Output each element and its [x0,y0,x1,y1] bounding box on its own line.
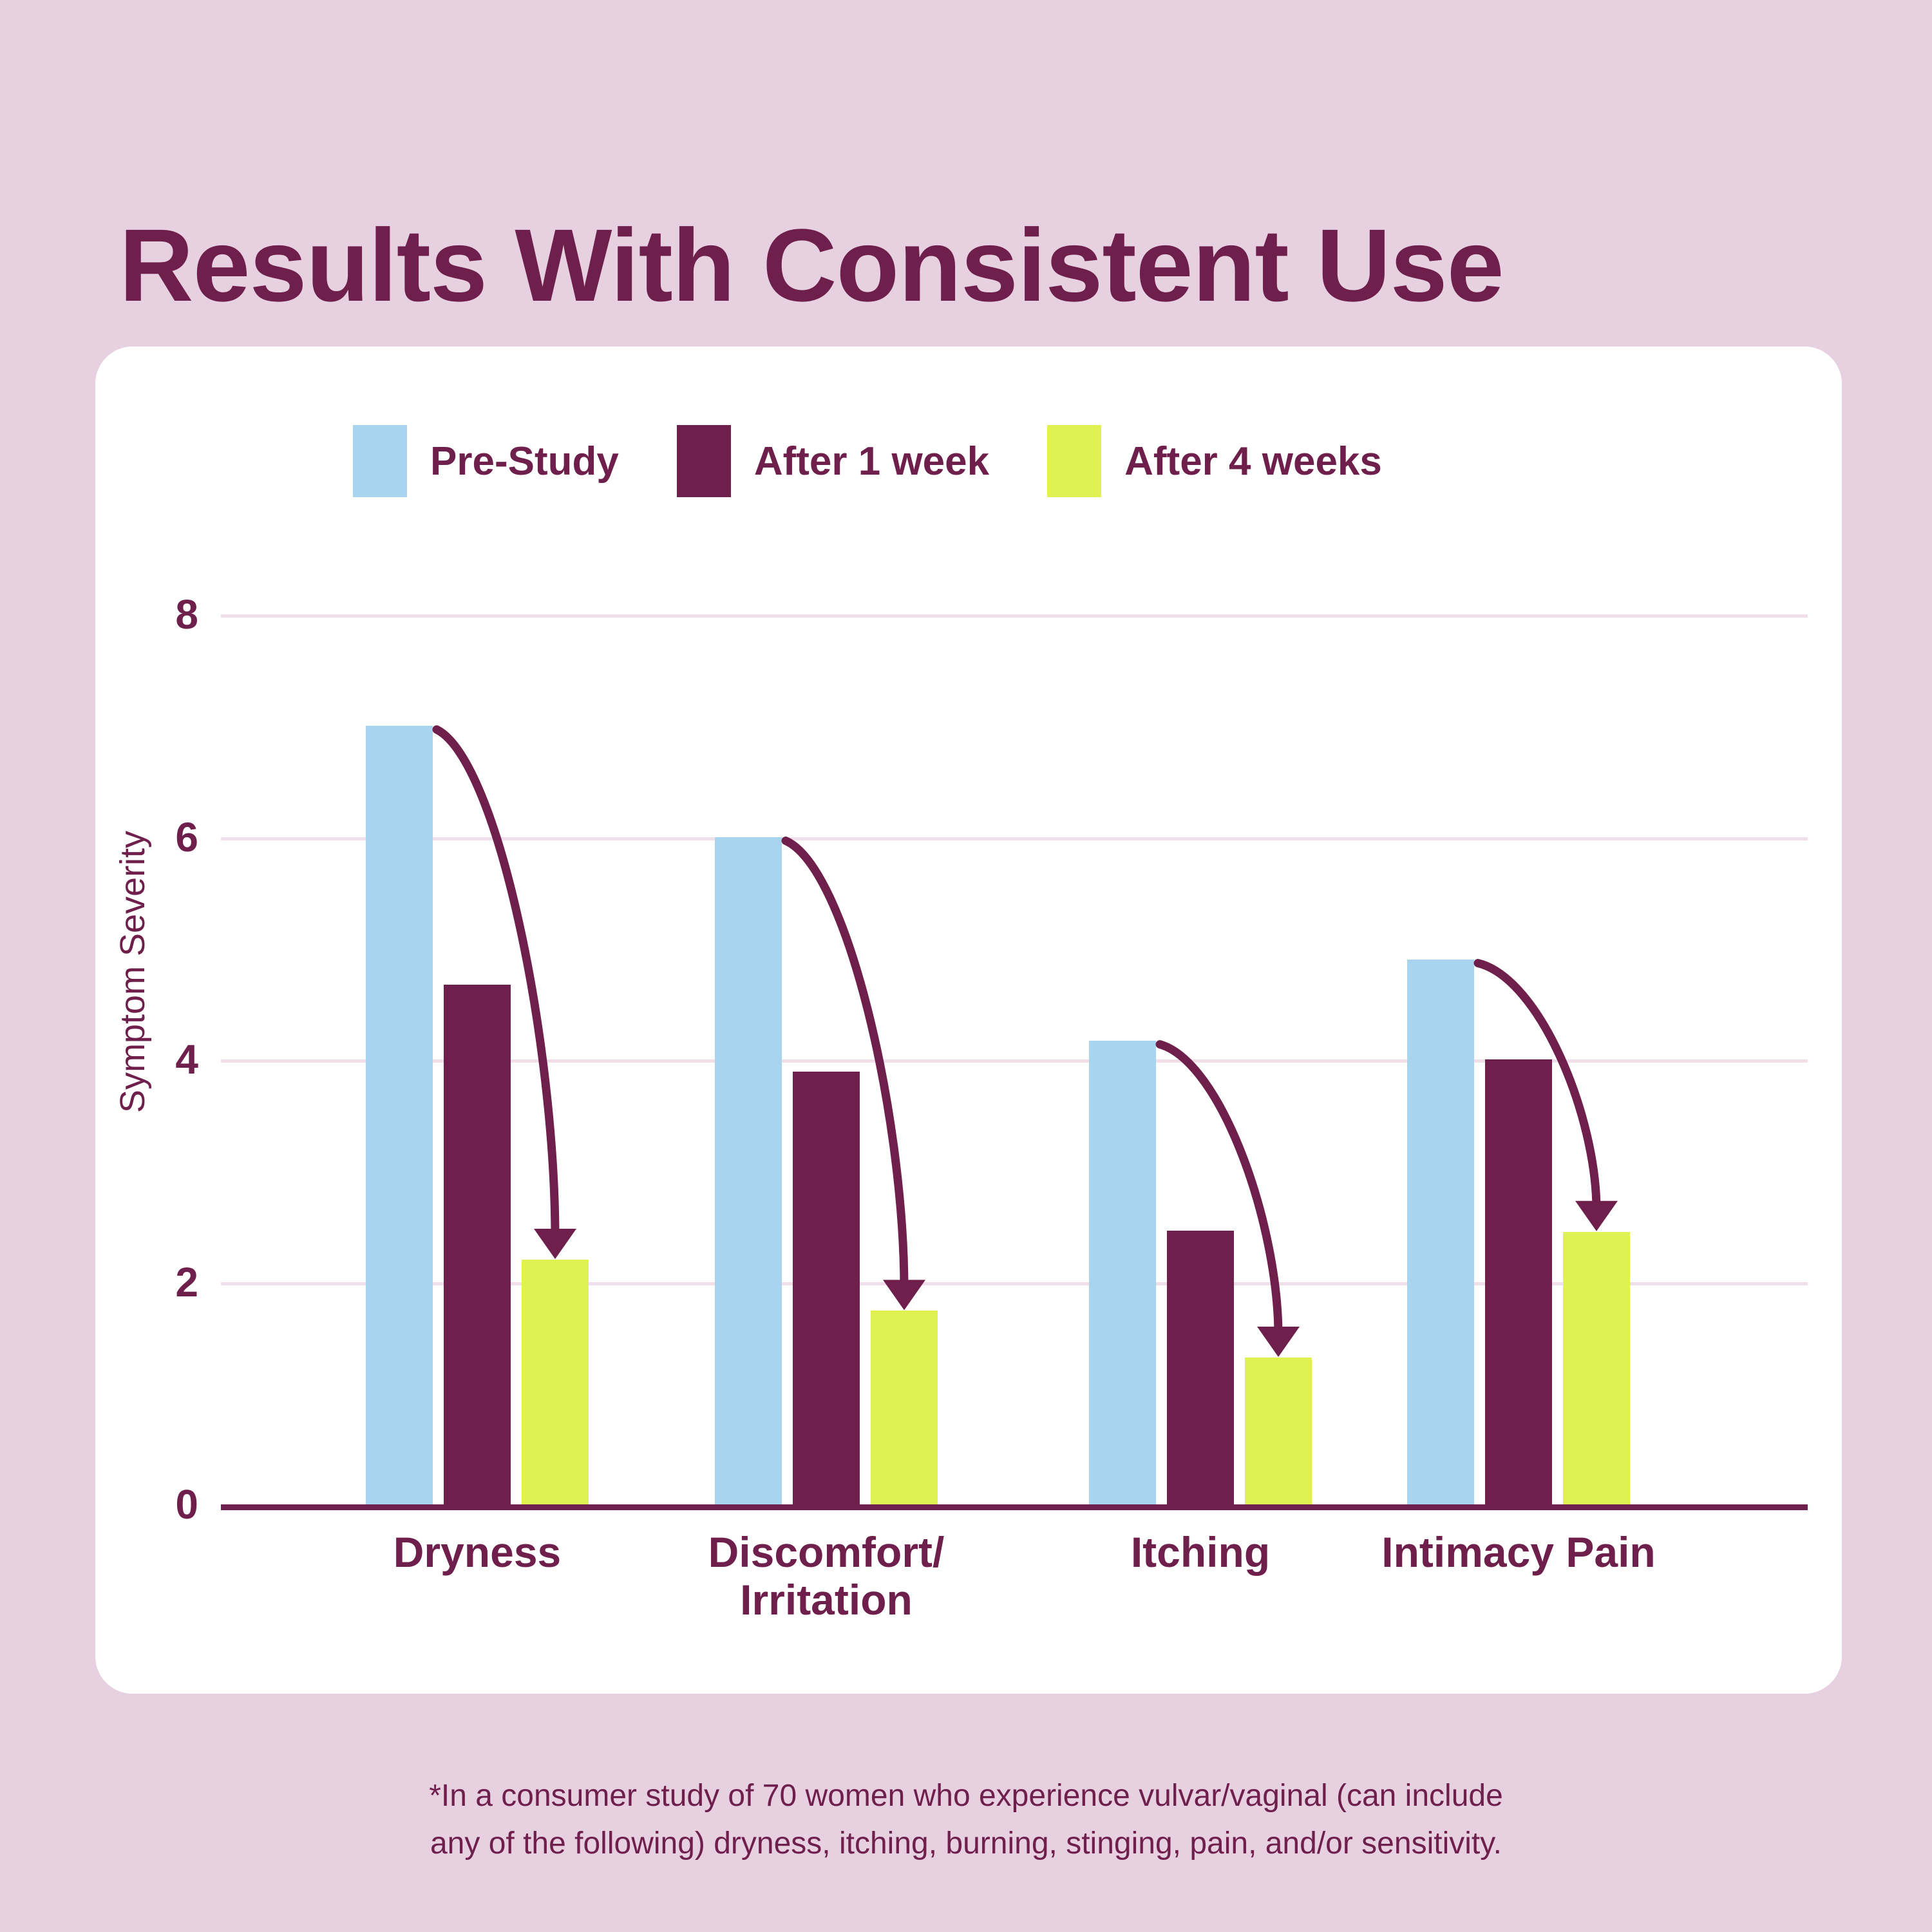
y-tick-label-4: 4 [115,1036,198,1083]
y-tick-label-2: 2 [115,1258,198,1306]
bar [522,1260,589,1504]
x-axis-baseline [221,1504,1808,1510]
bar [793,1072,860,1504]
footnote: *In a consumer study of 70 women who exp… [258,1772,1674,1868]
bar [1563,1232,1630,1504]
footnote-line-2: any of the following) dryness, itching, … [258,1820,1674,1868]
bar [1485,1059,1552,1504]
arrow-head-icon [1257,1327,1300,1357]
gridline-8 [221,614,1808,618]
footnote-line-1: *In a consumer study of 70 women who exp… [258,1772,1674,1820]
page-title: Results With Consistent Use [119,214,1826,317]
y-tick-label-0: 0 [115,1481,198,1528]
bar [1407,960,1474,1504]
infographic-page: Results With Consistent Use Pre-StudyAft… [0,0,1932,1932]
arrow-head-icon [534,1229,576,1259]
gridline-6 [221,837,1808,840]
bar [871,1311,938,1504]
y-tick-label-8: 8 [115,591,198,638]
bar [715,837,782,1505]
chart-card: Pre-StudyAfter 1 weekAfter 4 weeks Sympt… [95,346,1842,1694]
arrow-head-icon [1575,1201,1618,1231]
bar [444,985,511,1504]
bar [1245,1358,1312,1504]
category-label: Intimacy Pain [1229,1529,1808,1577]
category-label-line2: Irritation [536,1577,1116,1624]
y-tick-label-6: 6 [115,813,198,861]
bar [366,726,433,1504]
bar [1167,1231,1234,1504]
bar [1089,1041,1156,1504]
category-label-line1: Intimacy Pain [1229,1529,1808,1577]
chart-plot-area: Symptom Severity 02468 DrynessDiscomfort… [95,346,1842,1694]
